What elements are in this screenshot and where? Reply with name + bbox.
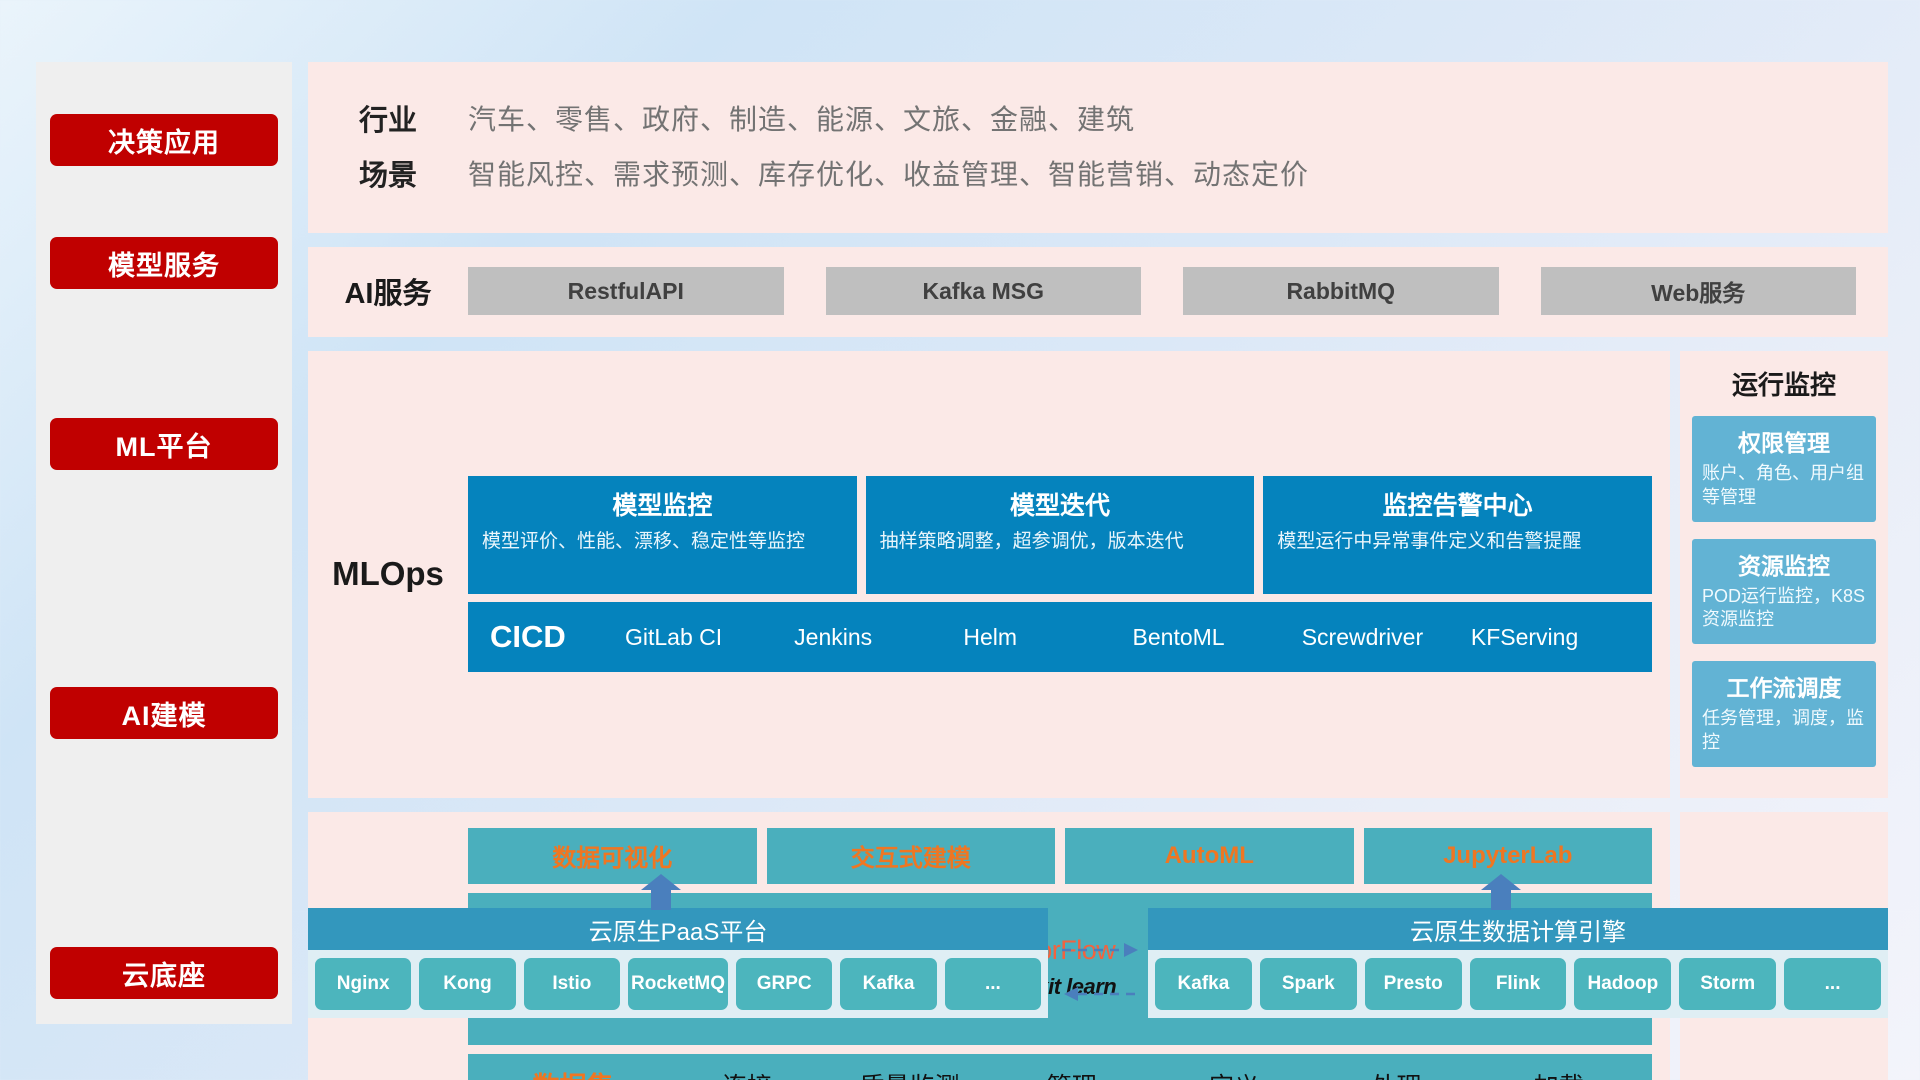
monitor-card-resource[interactable]: 资源监控 POD运行监控，K8S资源监控 — [1692, 539, 1876, 645]
cloud-chip-istio[interactable]: Istio — [524, 958, 620, 1010]
card-desc: 模型评价、性能、漂移、稳定性等监控 — [482, 529, 843, 555]
cloud-chip-grpc[interactable]: GRPC — [736, 958, 832, 1010]
dataset-item-process[interactable]: 处理 — [1315, 1067, 1477, 1080]
cicd-item-jenkins[interactable]: Jenkins — [794, 625, 963, 649]
rail-item-ml-platform[interactable]: ML平台 — [50, 418, 278, 470]
card-desc: 模型运行中异常事件定义和告警提醒 — [1277, 529, 1638, 555]
monitor-card-workflow[interactable]: 工作流调度 任务管理，调度，监控 — [1692, 661, 1876, 767]
dataset-item-list: 连接 质量监测 管理 定义 处理 加载 — [666, 1067, 1640, 1080]
mlops-card-model-iteration[interactable]: 模型迭代 抽样策略调整，超参调优，版本迭代 — [866, 476, 1255, 594]
mlops-label: MLOps — [308, 555, 468, 593]
cloud-chip-nginx[interactable]: Nginx — [315, 958, 411, 1010]
cicd-title: CICD — [490, 619, 625, 655]
card-title: 监控告警中心 — [1277, 486, 1638, 522]
scenario-row: 场景 智能风控、需求预测、库存优化、收益管理、智能营销、动态定价 — [308, 152, 1888, 194]
card-title: 模型迭代 — [880, 486, 1241, 522]
cicd-item-helm[interactable]: Helm — [963, 625, 1132, 649]
ai-service-chip-restfulapi[interactable]: RestfulAPI — [468, 267, 784, 315]
cloud-chip-kong[interactable]: Kong — [419, 958, 515, 1010]
mlops-band: MLOps 模型监控 模型评价、性能、漂移、稳定性等监控 模型迭代 抽样策略调整… — [308, 351, 1670, 798]
ai-service-chip-list: RestfulAPI Kafka MSG RabbitMQ Web服务 — [468, 267, 1888, 315]
dataset-title: 数据集 — [480, 1065, 666, 1080]
card-title: 资源监控 — [1702, 547, 1866, 581]
engine-chip-hadoop[interactable]: Hadoop — [1574, 958, 1671, 1010]
dataset-item-load[interactable]: 加载 — [1478, 1067, 1640, 1080]
cloud-chip-rocketmq[interactable]: RocketMQ — [628, 958, 728, 1010]
rail-item-label: 模型服务 — [108, 244, 220, 283]
engine-chip-kafka[interactable]: Kafka — [1155, 958, 1252, 1010]
dataset-item-define[interactable]: 定义 — [1153, 1067, 1315, 1080]
tool-tab-automl[interactable]: AutoML — [1065, 828, 1354, 884]
paas-up-arrow-icon — [638, 874, 684, 910]
cicd-item-gitlab-ci[interactable]: GitLab CI — [625, 625, 794, 649]
mlops-content: 模型监控 模型评价、性能、漂移、稳定性等监控 模型迭代 抽样策略调整，超参调优，… — [468, 476, 1652, 672]
cicd-item-list: GitLab CI Jenkins Helm BentoML Screwdriv… — [625, 625, 1640, 649]
decision-applications-band: 行业 汽车、零售、政府、制造、能源、文旅、金融、建筑 场景 智能风控、需求预测、… — [308, 62, 1888, 233]
rail-item-label: AI建模 — [122, 694, 207, 733]
card-title: 模型监控 — [482, 486, 843, 522]
dataset-item-manage[interactable]: 管理 — [991, 1067, 1153, 1080]
cloud-foundation-zone: 云原生PaaS平台 Nginx Kong Istio RocketMQ GRPC… — [308, 880, 1888, 1040]
card-desc: 账户、角色、用户组等管理 — [1702, 462, 1866, 510]
cicd-bar: CICD GitLab CI Jenkins Helm BentoML Scre… — [468, 602, 1652, 672]
dataset-item-quality[interactable]: 质量监测 — [828, 1067, 990, 1080]
rail-item-label: 云底座 — [122, 954, 206, 993]
cloud-chip-more[interactable]: ... — [945, 958, 1041, 1010]
engine-chip-spark[interactable]: Spark — [1260, 958, 1357, 1010]
bidirectional-link-arrows-icon — [1060, 938, 1142, 1006]
card-desc: 任务管理，调度，监控 — [1702, 707, 1866, 755]
stack-layer-rail: 决策应用 模型服务 ML平台 AI建模 云底座 — [36, 62, 292, 1024]
scenario-values: 智能风控、需求预测、库存优化、收益管理、智能营销、动态定价 — [468, 153, 1309, 193]
industry-row: 行业 汽车、零售、政府、制造、能源、文旅、金融、建筑 — [308, 97, 1888, 139]
card-title: 权限管理 — [1702, 424, 1866, 458]
ai-service-chip-web[interactable]: Web服务 — [1541, 267, 1857, 315]
scenario-label: 场景 — [308, 152, 468, 194]
ai-service-chip-rabbitmq[interactable]: RabbitMQ — [1183, 267, 1499, 315]
engine-chip-presto[interactable]: Presto — [1365, 958, 1462, 1010]
dataset-item-connect[interactable]: 连接 — [666, 1067, 828, 1080]
cicd-item-screwdriver[interactable]: Screwdriver — [1302, 625, 1471, 649]
engine-up-arrow-icon — [1478, 874, 1524, 910]
monitor-card-permission[interactable]: 权限管理 账户、角色、用户组等管理 — [1692, 416, 1876, 522]
cloud-data-engine-group: 云原生数据计算引擎 Kafka Spark Presto Flink Hadoo… — [1148, 908, 1888, 1018]
cloud-paas-chip-list: Nginx Kong Istio RocketMQ GRPC Kafka ... — [308, 950, 1048, 1018]
card-desc: POD运行监控，K8S资源监控 — [1702, 585, 1866, 633]
cicd-item-bentoml[interactable]: BentoML — [1133, 625, 1302, 649]
card-desc: 抽样策略调整，超参调优，版本迭代 — [880, 529, 1241, 555]
ai-service-label: AI服务 — [308, 270, 468, 312]
dataset-row: 数据集 连接 质量监测 管理 定义 处理 加载 — [468, 1054, 1652, 1080]
mlops-card-model-monitoring[interactable]: 模型监控 模型评价、性能、漂移、稳定性等监控 — [468, 476, 857, 594]
rail-item-cloud-base[interactable]: 云底座 — [50, 947, 278, 999]
ai-service-chip-kafka-msg[interactable]: Kafka MSG — [826, 267, 1142, 315]
runtime-monitoring-panel: 运行监控 权限管理 账户、角色、用户组等管理 资源监控 POD运行监控，K8S资… — [1680, 351, 1888, 798]
runtime-monitoring-title: 运行监控 — [1692, 365, 1876, 402]
cloud-paas-group: 云原生PaaS平台 Nginx Kong Istio RocketMQ GRPC… — [308, 908, 1048, 1018]
rail-item-ai-modeling[interactable]: AI建模 — [50, 687, 278, 739]
cloud-engine-title: 云原生数据计算引擎 — [1148, 908, 1888, 950]
cicd-item-kfserving[interactable]: KFServing — [1471, 625, 1640, 649]
mlops-card-list: 模型监控 模型评价、性能、漂移、稳定性等监控 模型迭代 抽样策略调整，超参调优，… — [468, 476, 1652, 594]
tool-tab-interactive-modeling[interactable]: 交互式建模 — [767, 828, 1056, 884]
cloud-engine-chip-list: Kafka Spark Presto Flink Hadoop Storm ..… — [1148, 950, 1888, 1018]
rail-item-label: 决策应用 — [108, 121, 220, 160]
tool-tab-data-visualization[interactable]: 数据可视化 — [468, 828, 757, 884]
cloud-chip-kafka[interactable]: Kafka — [840, 958, 936, 1010]
cloud-paas-title: 云原生PaaS平台 — [308, 908, 1048, 950]
mlops-card-alert-center[interactable]: 监控告警中心 模型运行中异常事件定义和告警提醒 — [1263, 476, 1652, 594]
engine-chip-flink[interactable]: Flink — [1470, 958, 1567, 1010]
engine-chip-more[interactable]: ... — [1784, 958, 1881, 1010]
rail-item-label: ML平台 — [116, 425, 213, 464]
card-title: 工作流调度 — [1702, 669, 1866, 703]
rail-item-model-service[interactable]: 模型服务 — [50, 237, 278, 289]
engine-chip-storm[interactable]: Storm — [1679, 958, 1776, 1010]
ml-platform-row: MLOps 模型监控 模型评价、性能、漂移、稳定性等监控 模型迭代 抽样策略调整… — [308, 351, 1888, 798]
industry-values: 汽车、零售、政府、制造、能源、文旅、金融、建筑 — [468, 98, 1135, 138]
ai-service-band: AI服务 RestfulAPI Kafka MSG RabbitMQ Web服务 — [308, 247, 1888, 337]
rail-item-decision[interactable]: 决策应用 — [50, 114, 278, 166]
industry-label: 行业 — [308, 97, 468, 139]
